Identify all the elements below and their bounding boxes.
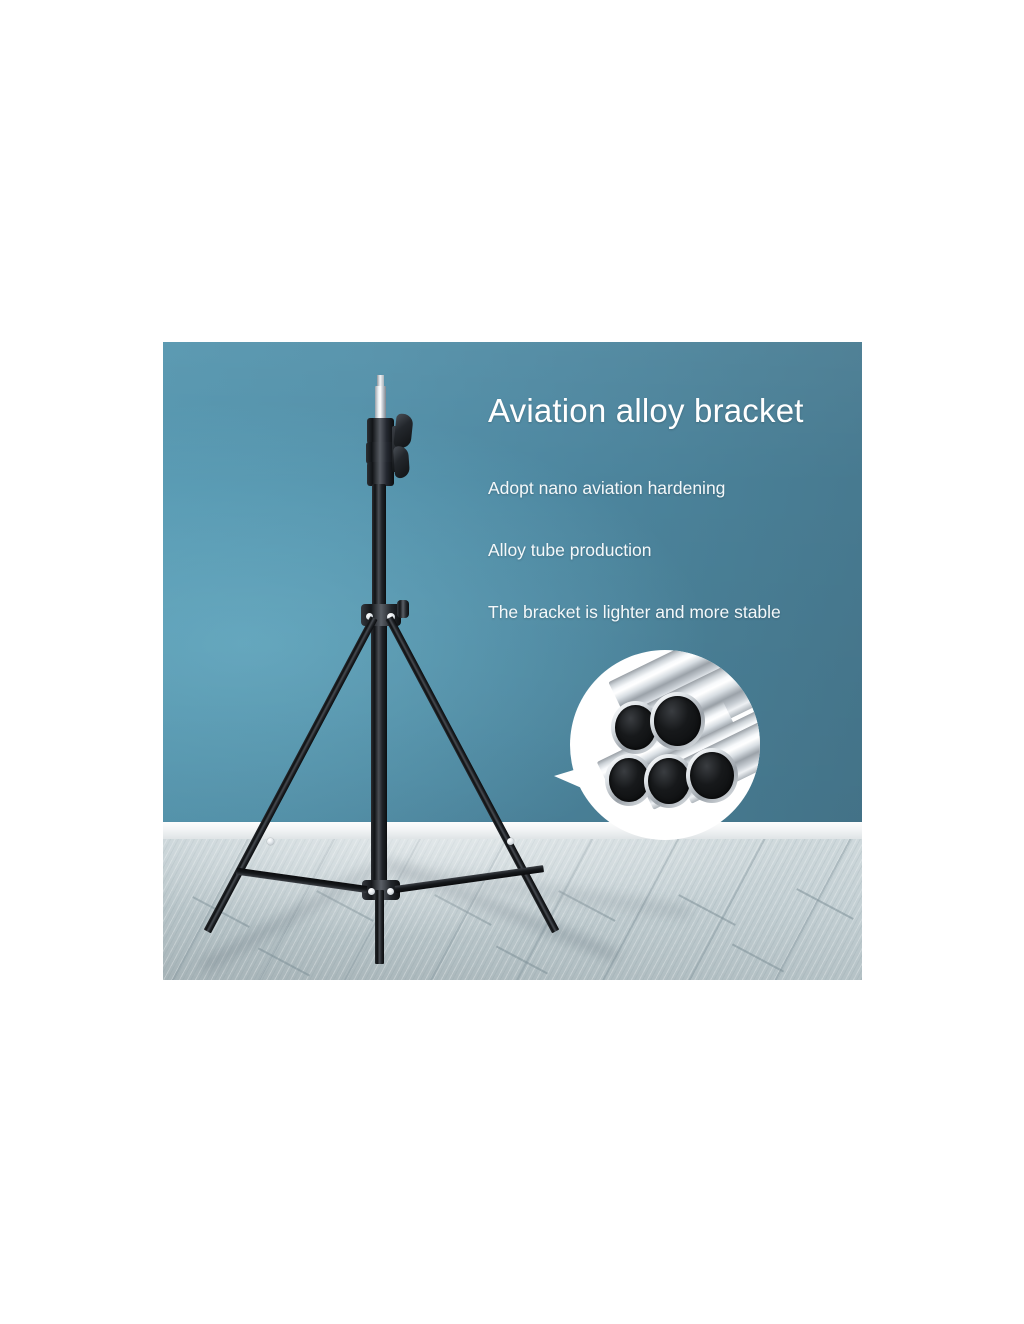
brace-pivot-rivet [267,838,274,845]
center-post-lower [371,612,387,892]
cross-brace-right [395,865,545,893]
lower-hub-rivet [368,888,375,895]
cross-brace-left [236,868,368,893]
feature-line-3: The bracket is lighter and more stable [488,602,781,623]
brace-pivot-rivet [507,838,514,845]
center-post-upper [372,484,386,612]
tube-bore-front-left [609,758,649,802]
feature-line-1: Adopt nano aviation hardening [488,478,725,499]
callout-circle [570,650,760,840]
alloy-tube-callout [570,650,760,840]
locking-knob[interactable] [393,413,413,449]
head-collar-lower [367,462,394,486]
tube-bore-back-right [654,696,701,746]
tube-bore-front-mid [648,758,690,804]
tube-bore-front-right [690,752,734,799]
product-figure: Aviation alloy bracket Adopt nano aviati… [163,342,862,980]
alloy-tube-bundle [570,650,760,840]
head-collar-mid [366,442,395,464]
locking-knob-secondary[interactable] [393,446,410,479]
head-collar-upper [367,418,394,444]
upper-hub-side-tab [397,600,409,618]
tripod-leg-rear [375,890,384,964]
feature-line-2: Alloy tube production [488,540,651,561]
lower-hub-rivet [387,888,394,895]
page-title: Aviation alloy bracket [488,392,804,430]
